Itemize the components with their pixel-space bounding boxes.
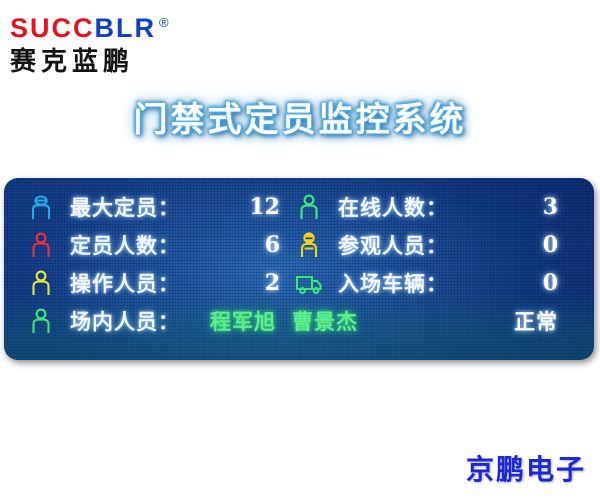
led-field-max-capacity: 最大定员： 12 (26, 188, 294, 226)
led-value: 3 (543, 194, 572, 220)
led-row: 场内人员： 程军旭 曹景杰 正常 (26, 302, 572, 340)
led-value: 0 (543, 270, 572, 296)
led-label: 入场车辆： (338, 268, 448, 298)
led-value: 2 (265, 270, 294, 296)
person-red-icon (26, 230, 56, 260)
led-label: 在线人数： (338, 192, 448, 222)
led-label: 场内人员： (70, 306, 180, 336)
truck-green-icon (294, 268, 324, 298)
led-field-onsite-personnel: 场内人员： 程军旭 曹景杰 正常 (26, 302, 572, 340)
led-display-panel: 最大定员： 12 在线人数： 3 (4, 178, 594, 360)
list-item: 程军旭 (210, 306, 276, 336)
led-field-online-count: 在线人数： 3 (294, 188, 572, 226)
led-value: 12 (249, 194, 294, 220)
list-item: 曹景杰 (292, 306, 358, 336)
person-helmet-yellow-icon (294, 230, 324, 260)
person-yellow-icon (26, 268, 56, 298)
led-field-vehicles: 入场车辆： 0 (294, 264, 572, 302)
logo-blr-text: BLR (95, 13, 157, 43)
page-title: 门禁式定员监控系统 (0, 92, 600, 141)
onsite-names-list: 程军旭 曹景杰 (210, 306, 358, 336)
led-label: 定员人数： (70, 230, 180, 260)
led-row: 定员人数： 6 参观人员： 0 (26, 226, 572, 264)
footer-brand-text: 京鹏电子 (466, 448, 586, 488)
led-label: 参观人员： (338, 230, 448, 260)
led-row: 操作人员： 2 入场车辆： 0 (26, 264, 572, 302)
led-content-grid: 最大定员： 12 在线人数： 3 (26, 188, 572, 350)
led-value: 6 (265, 232, 294, 258)
led-label: 最大定员： (70, 192, 180, 222)
logo-latin-text: SUCCBLR® (10, 8, 240, 43)
logo-chinese-text: 赛克蓝鹏 (10, 45, 240, 79)
logo-succ-text: SUCC (10, 13, 95, 43)
led-field-staff-quota: 定员人数： 6 (26, 226, 294, 264)
led-label: 操作人员： (70, 268, 180, 298)
company-logo: SUCCBLR® 赛克蓝鹏 (10, 8, 240, 78)
led-row: 最大定员： 12 在线人数： 3 (26, 188, 572, 226)
registered-trademark-icon: ® (159, 15, 171, 30)
person-green-icon (26, 306, 56, 336)
status-badge: 正常 (514, 306, 572, 336)
led-value: 0 (543, 232, 572, 258)
person-green-icon (294, 192, 324, 222)
led-field-operators: 操作人员： 2 (26, 264, 294, 302)
person-cap-cyan-icon (26, 192, 56, 222)
led-field-visitors: 参观人员： 0 (294, 226, 572, 264)
